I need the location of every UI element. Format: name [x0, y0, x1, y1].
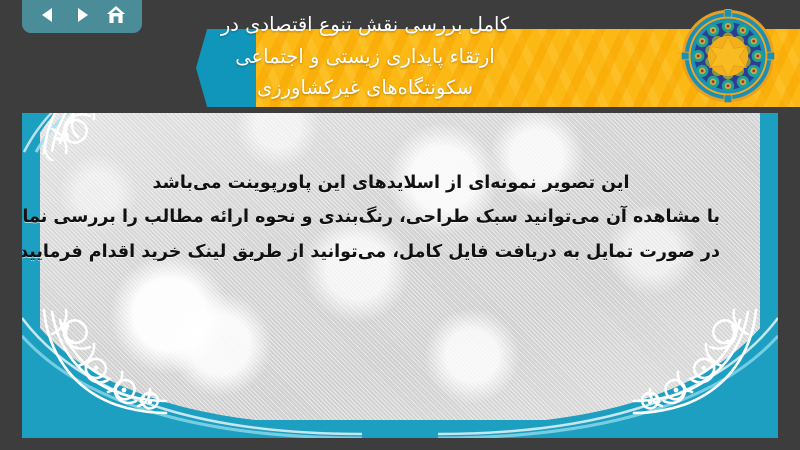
forward-button[interactable] [70, 3, 94, 27]
back-button[interactable] [36, 3, 60, 27]
title-line-2: ارتقاء پایداری زیستی و اجتماعی [235, 41, 494, 73]
title-line-1: کامل بررسی نقش تنوع اقتصادی در [221, 9, 509, 41]
body-line-1: این تصویر نمونه‌ای از اسلایدهای این پاور… [62, 166, 720, 200]
back-arrow-icon [37, 4, 59, 26]
slide-viewer: این تصویر نمونه‌ای از اسلایدهای این پاور… [0, 0, 800, 450]
home-icon [105, 4, 127, 26]
navigation-bar[interactable] [22, 0, 142, 33]
persian-medallion-icon [680, 8, 776, 104]
slide-body-text: این تصویر نمونه‌ای از اسلایدهای این پاور… [62, 166, 720, 269]
title-line-3: سکونتگاه‌های غیرکشاورزی [257, 72, 473, 104]
forward-arrow-icon [71, 4, 93, 26]
home-button[interactable] [104, 3, 128, 27]
body-line-2: با مشاهده آن می‌توانید سبک طراحی، رنگ‌بن… [62, 200, 720, 234]
body-line-3: در صورت تمایل به دریافت فایل کامل، می‌تو… [62, 235, 720, 269]
